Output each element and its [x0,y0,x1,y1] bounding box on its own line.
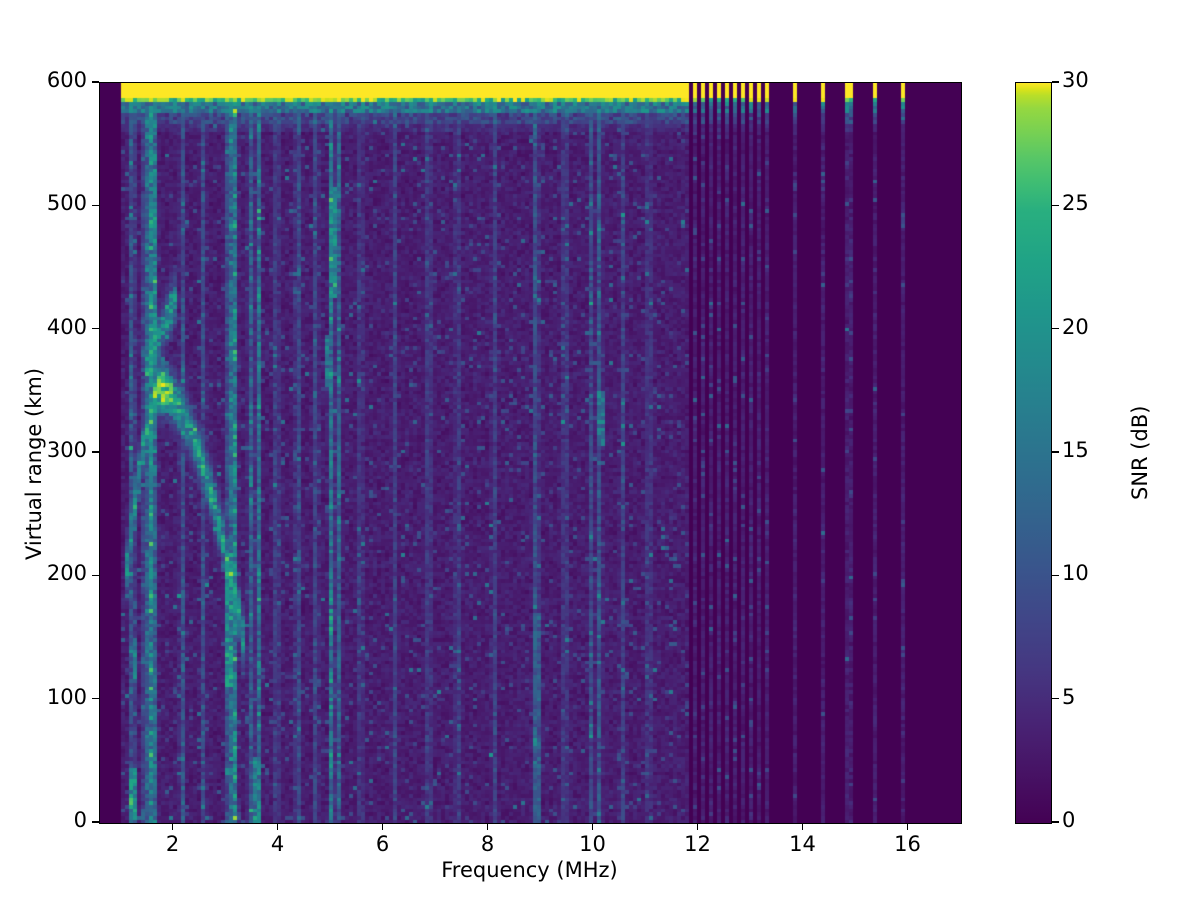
colorbar-tick-label: 15 [1062,438,1089,462]
x-tick-label: 14 [773,832,833,856]
ionogram-plot-area[interactable] [99,82,962,824]
x-tick-mark [382,823,383,830]
x-tick-label: 10 [563,832,623,856]
colorbar-tick-label: 25 [1062,191,1089,215]
y-axis-label: Virtual range (km) [22,368,46,560]
x-tick-mark [277,823,278,830]
y-tick-label: 500 [0,191,87,215]
x-tick-mark [172,823,173,830]
x-axis-label: Frequency (MHz) [99,858,960,882]
colorbar [1015,82,1052,824]
y-tick-label: 200 [0,561,87,585]
y-tick-label: 0 [0,808,87,832]
colorbar-tick-label: 10 [1062,561,1089,585]
y-tick-mark [92,821,99,822]
y-tick-label: 300 [0,438,87,462]
y-tick-mark [92,205,99,206]
x-tick-label: 2 [143,832,203,856]
x-tick-mark [802,823,803,830]
y-tick-label: 100 [0,685,87,709]
x-tick-label: 4 [248,832,308,856]
y-tick-mark [92,328,99,329]
colorbar-tick-mark [1052,451,1059,452]
y-tick-mark [92,698,99,699]
x-tick-mark [907,823,908,830]
ionogram-heatmap [100,83,961,823]
x-tick-mark [592,823,593,830]
y-tick-mark [92,451,99,452]
colorbar-tick-mark [1052,575,1059,576]
x-tick-label: 6 [353,832,413,856]
x-tick-label: 12 [668,832,728,856]
colorbar-label: SNR (dB) [1128,406,1152,500]
colorbar-tick-label: 5 [1062,685,1075,709]
colorbar-tick-label: 30 [1062,68,1089,92]
ionogram-figure: IRF Uppsala SDR Ionosonde UP158 2026-03-… [0,0,1200,900]
colorbar-tick-label: 20 [1062,315,1089,339]
colorbar-tick-mark [1052,821,1059,822]
colorbar-tick-mark [1052,81,1059,82]
y-tick-label: 600 [0,68,87,92]
x-tick-label: 8 [458,832,518,856]
x-tick-mark [697,823,698,830]
colorbar-tick-mark [1052,698,1059,699]
colorbar-tick-label: 0 [1062,808,1075,832]
colorbar-tick-mark [1052,205,1059,206]
y-tick-mark [92,575,99,576]
colorbar-tick-mark [1052,328,1059,329]
x-tick-mark [487,823,488,830]
y-tick-label: 400 [0,315,87,339]
y-tick-mark [92,81,99,82]
x-tick-label: 16 [878,832,938,856]
